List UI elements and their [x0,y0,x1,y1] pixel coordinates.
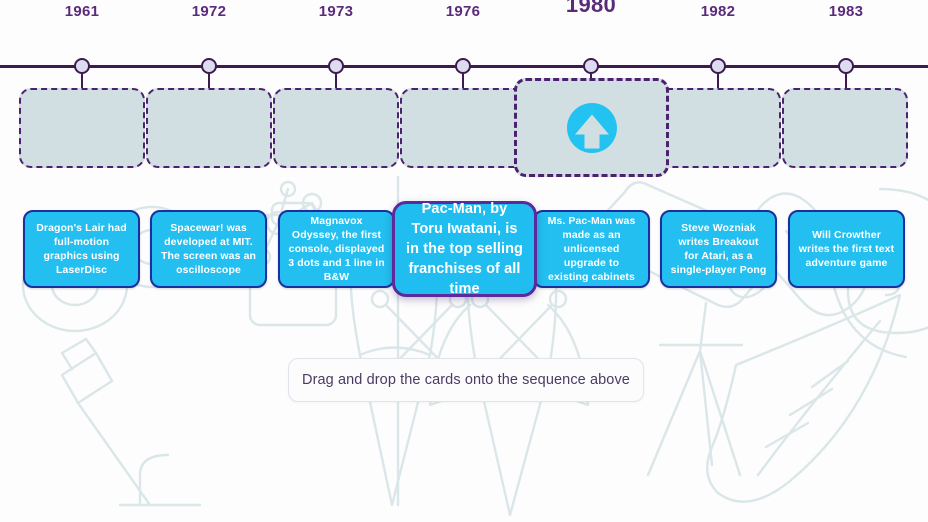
timeline-stem-1973 [335,74,338,88]
timeline-dot-1983 [838,58,854,74]
year-label-1973: 1973 [319,0,354,24]
fact-card-crowther[interactable]: Will Crowther writes the first text adve… [788,210,905,288]
fact-card-text: Dragon's Lair had full-motion graphics u… [33,221,130,277]
timeline-stem-1983 [845,74,848,88]
fact-card-spacewar[interactable]: Spacewar! was developed at MIT. The scre… [150,210,267,288]
fact-card-breakout[interactable]: Steve Wozniak writes Breakout for Atari,… [660,210,777,288]
timeline-stem-1961 [81,74,84,88]
fact-card-text: Ms. Pac-Man was made as an unlicensed up… [543,214,640,284]
fact-card-dragons-lair[interactable]: Dragon's Lair had full-motion graphics u… [23,210,140,288]
timeline-dot-1973 [328,58,344,74]
fact-card-text: Spacewar! was developed at MIT. The scre… [160,221,257,277]
timeline-dot-1961 [74,58,90,74]
fact-card-text: Pac-Man, by Toru Iwatani, is in the top … [405,199,524,299]
year-label-1983: 1983 [829,0,864,24]
timeline-dot-1982 [710,58,726,74]
year-label-1961: 1961 [65,0,100,24]
fact-card-ms-pac-man[interactable]: Ms. Pac-Man was made as an unlicensed up… [533,210,650,288]
drop-instruction-text: Drag and drop the cards onto the sequenc… [302,372,630,388]
drop-instruction-pill: Drag and drop the cards onto the sequenc… [288,358,644,402]
slot-1976[interactable] [400,88,526,168]
timeline-dot-1976 [455,58,471,74]
fact-card-pac-man[interactable]: Pac-Man, by Toru Iwatani, is in the top … [392,201,537,297]
slot-1983[interactable] [782,88,908,168]
year-label-1972: 1972 [192,0,227,24]
year-label-1976: 1976 [446,0,481,24]
slot-1973[interactable] [273,88,399,168]
year-label-1980: 1980 [566,0,616,17]
slot-1982[interactable] [655,88,781,168]
year-label-1982: 1982 [701,0,736,24]
fact-card-text: Steve Wozniak writes Breakout for Atari,… [670,221,767,277]
timeline-dot-1980 [583,58,599,74]
fact-card-magnavox[interactable]: Magnavox Odyssey, the first console, dis… [278,210,395,288]
timeline-activity-screen: 1961197219731976198019821983 Dragon's La… [0,0,928,522]
timeline-dot-1972 [201,58,217,74]
timeline-stem-1976 [462,74,465,88]
fact-card-text: Magnavox Odyssey, the first console, dis… [288,214,385,284]
slot-1980[interactable] [514,78,669,177]
timeline-stem-1982 [717,74,720,88]
fact-card-text: Will Crowther writes the first text adve… [798,228,895,270]
upload-arrow-icon [566,102,618,154]
slot-1972[interactable] [146,88,272,168]
timeline-stem-1972 [208,74,211,88]
slot-1961[interactable] [19,88,145,168]
